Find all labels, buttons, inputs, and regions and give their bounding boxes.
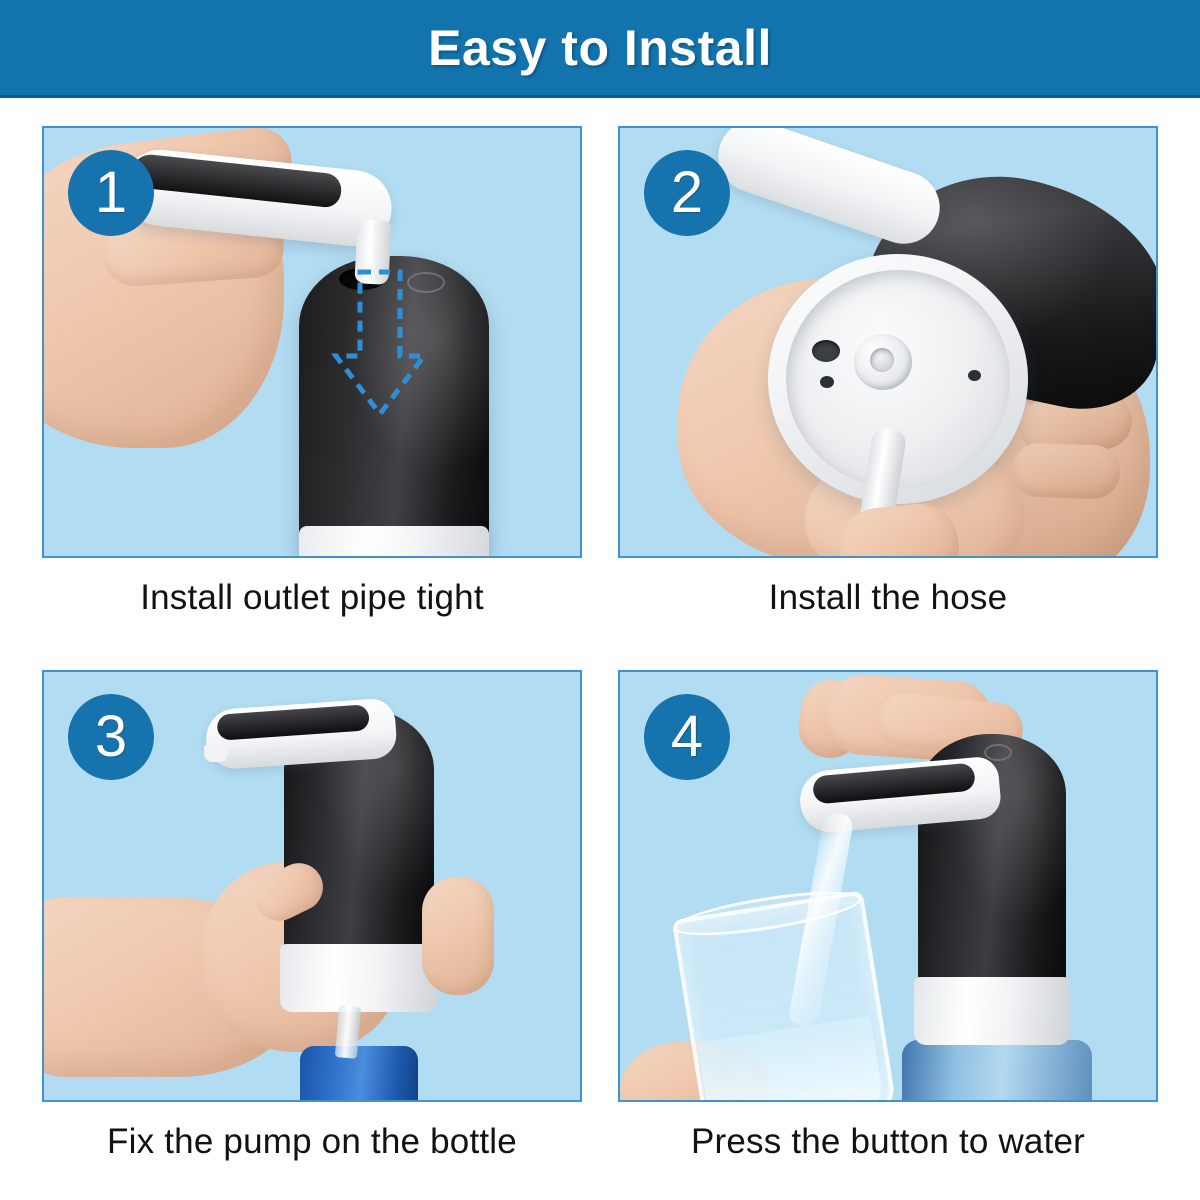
step-number-badge-4: 4 — [644, 694, 730, 780]
bottle-cap — [300, 1046, 418, 1102]
header-banner: Easy to Install — [0, 0, 1200, 95]
step-photo-3: 3 — [42, 670, 582, 1102]
power-button-icon — [984, 744, 1012, 761]
right-finger-3 — [1011, 442, 1121, 500]
fingers — [422, 877, 494, 995]
hose-upper-section — [709, 126, 950, 253]
step-photo-4: 4 — [618, 670, 1158, 1102]
step-caption-2: Install the hose — [618, 578, 1158, 618]
step-photo-1: 1 — [42, 126, 582, 558]
page-title: Easy to Install — [428, 23, 772, 73]
pump-white-base — [299, 526, 489, 558]
step-card-1: 1 Install — [42, 126, 582, 618]
base-hole-small-left — [820, 376, 834, 388]
step-photo-2: 2 — [618, 126, 1158, 558]
step-card-3: 3 Fix the pump on the bottle — [42, 670, 582, 1162]
header-divider — [0, 95, 1200, 98]
step-caption-1: Install outlet pipe tight — [42, 578, 582, 618]
pump-white-base — [914, 977, 1070, 1045]
step-card-4: 4 Press the butt — [618, 670, 1158, 1162]
spout-arm-black-top — [130, 153, 342, 209]
step-caption-3: Fix the pump on the bottle — [42, 1122, 582, 1162]
glass-water — [697, 1016, 884, 1102]
spout-arm-black-top — [216, 704, 369, 741]
step-number-badge-3: 3 — [68, 694, 154, 780]
down-arrow-icon — [320, 268, 440, 418]
spout-tip — [204, 744, 228, 762]
intake-hose — [335, 1005, 361, 1059]
base-hole-small-right — [968, 370, 981, 381]
step-card-2: 2 I — [618, 126, 1158, 618]
base-hole-large — [812, 340, 840, 362]
step-number-badge-2: 2 — [644, 150, 730, 236]
drinking-glass — [672, 890, 898, 1102]
water-bottle — [902, 1040, 1092, 1102]
pump-white-base — [280, 944, 438, 1012]
spout-arm-black-top — [812, 762, 976, 804]
steps-grid: 1 Install — [0, 110, 1200, 1200]
glass-rim — [670, 883, 864, 944]
step-caption-4: Press the button to water — [618, 1122, 1158, 1162]
hose-mount-opening — [870, 348, 894, 372]
step-number-badge-1: 1 — [68, 150, 154, 236]
